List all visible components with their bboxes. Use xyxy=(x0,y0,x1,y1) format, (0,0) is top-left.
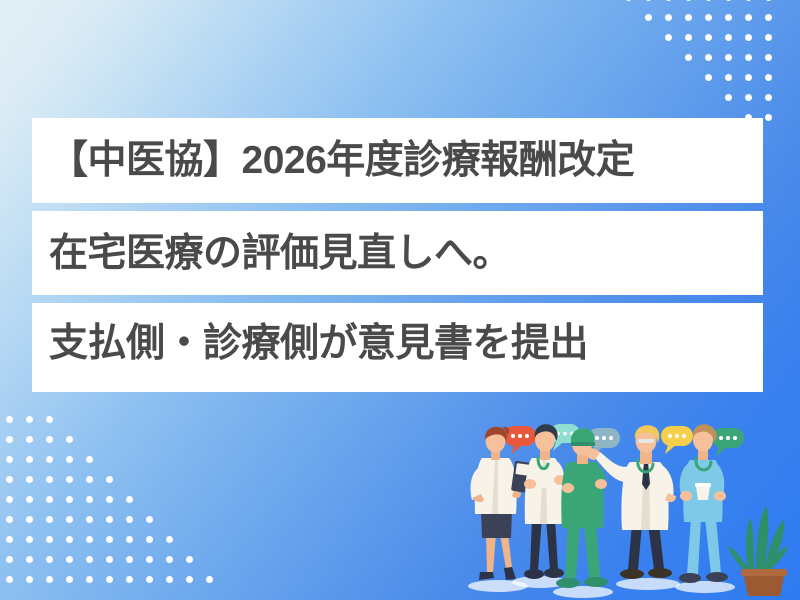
decorative-dot xyxy=(6,516,13,523)
decorative-dot xyxy=(26,456,33,463)
medical-team-illustration xyxy=(462,414,800,600)
decorative-dot xyxy=(745,74,752,81)
decorative-dot xyxy=(46,476,53,483)
speech-bubble-green xyxy=(712,428,744,456)
decorative-dot xyxy=(186,576,193,583)
decorative-dot xyxy=(745,94,752,101)
decorative-dot xyxy=(26,576,33,583)
decorative-dot xyxy=(685,0,692,1)
decorative-dot xyxy=(46,456,53,463)
decorative-dot xyxy=(6,456,13,463)
decorative-dot xyxy=(66,456,73,463)
decorative-dot xyxy=(66,556,73,563)
decorative-dot xyxy=(106,516,113,523)
decorative-dot xyxy=(26,496,33,503)
floor-shadow xyxy=(675,581,735,593)
decorative-dot xyxy=(685,14,692,21)
decorative-dot xyxy=(765,94,772,101)
decorative-dot xyxy=(66,536,73,543)
decorative-dot xyxy=(705,0,712,1)
decorative-dot xyxy=(745,34,752,41)
decorative-dot xyxy=(725,34,732,41)
thumbnail-canvas: 【中医協】2026年度診療報酬改定 在宅医療の評価見直しへ。 支払側・診療側が意… xyxy=(0,0,800,600)
decorative-dot xyxy=(645,14,652,21)
decorative-dot xyxy=(665,34,672,41)
decorative-dot xyxy=(106,496,113,503)
decorative-dot xyxy=(166,536,173,543)
decorative-dot xyxy=(126,496,133,503)
decorative-dot xyxy=(705,34,712,41)
decorative-dot xyxy=(26,416,33,423)
decorative-dot xyxy=(106,576,113,583)
decorative-dot xyxy=(685,34,692,41)
decorative-dot xyxy=(86,556,93,563)
decorative-dot xyxy=(745,54,752,61)
decorative-dot xyxy=(6,536,13,543)
decorative-dot xyxy=(6,436,13,443)
decorative-dot xyxy=(146,576,153,583)
decorative-dot xyxy=(765,54,772,61)
decorative-dot xyxy=(6,416,13,423)
decorative-dot xyxy=(26,436,33,443)
decorative-dot xyxy=(26,556,33,563)
decorative-dot xyxy=(685,54,692,61)
decorative-dot xyxy=(126,556,133,563)
headline-box-2: 在宅医療の評価見直しへ。 xyxy=(32,211,763,295)
decorative-dot xyxy=(126,536,133,543)
decorative-dot xyxy=(765,114,772,121)
dot-grid-bottom-left xyxy=(0,410,230,600)
decorative-dot xyxy=(6,576,13,583)
decorative-dot xyxy=(46,536,53,543)
decorative-dot xyxy=(765,34,772,41)
speech-bubble-yellow xyxy=(661,426,693,454)
decorative-dot xyxy=(665,14,672,21)
decorative-dot xyxy=(66,516,73,523)
decorative-dot xyxy=(86,516,93,523)
decorative-dot xyxy=(206,576,213,583)
floor-shadow xyxy=(616,578,680,590)
potted-snake-plant xyxy=(728,506,788,596)
decorative-dot xyxy=(645,0,652,1)
decorative-dot xyxy=(146,556,153,563)
decorative-dot xyxy=(46,496,53,503)
decorative-dot xyxy=(86,476,93,483)
decorative-dot xyxy=(106,556,113,563)
decorative-dot xyxy=(725,54,732,61)
decorative-dot xyxy=(665,0,672,1)
decorative-dot xyxy=(66,576,73,583)
decorative-dot xyxy=(625,0,632,1)
headline-line-2: 在宅医療の評価見直しへ。 xyxy=(49,234,511,273)
decorative-dot xyxy=(745,14,752,21)
decorative-dot xyxy=(725,74,732,81)
decorative-dot xyxy=(126,516,133,523)
decorative-dot xyxy=(6,556,13,563)
decorative-dot xyxy=(86,496,93,503)
decorative-dot xyxy=(106,536,113,543)
decorative-dot xyxy=(26,476,33,483)
decorative-dot xyxy=(86,456,93,463)
decorative-dot xyxy=(86,576,93,583)
decorative-dot xyxy=(126,576,133,583)
decorative-dot xyxy=(765,0,772,1)
decorative-dot xyxy=(765,74,772,81)
decorative-dot xyxy=(725,14,732,21)
decorative-dot xyxy=(6,476,13,483)
decorative-dot xyxy=(6,496,13,503)
decorative-dot xyxy=(725,0,732,1)
decorative-dot xyxy=(26,516,33,523)
decorative-dot xyxy=(166,576,173,583)
decorative-dot xyxy=(166,556,173,563)
decorative-dot xyxy=(765,14,772,21)
decorative-dot xyxy=(146,536,153,543)
headline-line-3: 支払側・診療側が意見書を提出 xyxy=(49,324,588,363)
decorative-dot xyxy=(186,556,193,563)
decorative-dot xyxy=(146,516,153,523)
decorative-dot xyxy=(66,496,73,503)
floor-shadow xyxy=(553,586,613,598)
decorative-dot xyxy=(46,516,53,523)
headline-box-1: 【中医協】2026年度診療報酬改定 xyxy=(32,118,763,203)
headline-line-1: 【中医協】2026年度診療報酬改定 xyxy=(49,141,634,180)
decorative-dot xyxy=(705,54,712,61)
decorative-dot xyxy=(26,536,33,543)
decorative-dot xyxy=(46,556,53,563)
decorative-dot xyxy=(66,436,73,443)
decorative-dot xyxy=(46,576,53,583)
decorative-dot xyxy=(86,536,93,543)
decorative-dot xyxy=(106,476,113,483)
decorative-dot xyxy=(66,476,73,483)
decorative-dot xyxy=(46,416,53,423)
decorative-dot xyxy=(705,74,712,81)
decorative-dot xyxy=(725,94,732,101)
decorative-dot xyxy=(745,0,752,1)
decorative-dot xyxy=(705,14,712,21)
male-doctor-arms-crossed xyxy=(524,424,566,579)
headline-box-3: 支払側・診療側が意見書を提出 xyxy=(32,303,763,392)
decorative-dot xyxy=(46,436,53,443)
